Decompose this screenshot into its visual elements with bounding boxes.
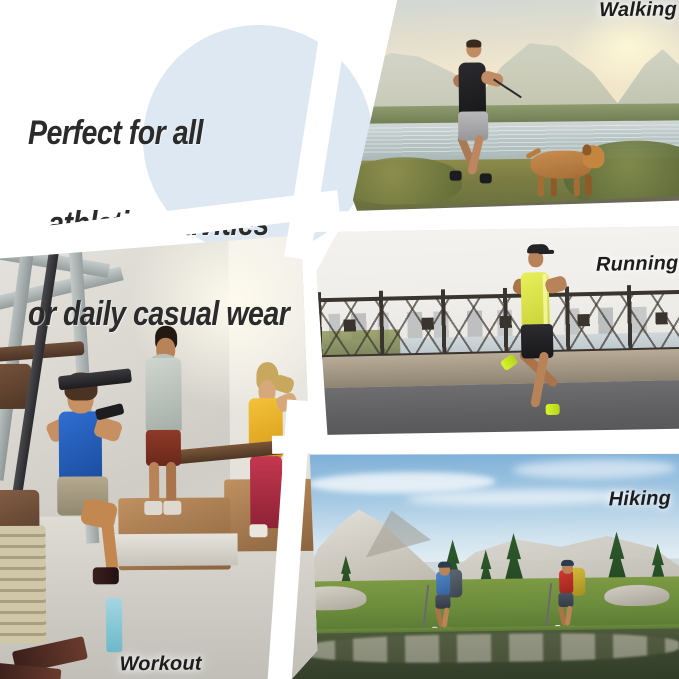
headline-line-1: Perfect for all [28, 111, 339, 156]
leg [149, 462, 159, 506]
boulder [604, 584, 670, 606]
runner-cap-brim [538, 250, 554, 254]
walker-hair [466, 40, 481, 48]
walker-front-shoe [480, 173, 492, 183]
hiker-torso [559, 570, 573, 594]
hiking-scene [282, 449, 679, 679]
dog-leg [537, 175, 544, 197]
walker-figure [436, 41, 512, 186]
red-leggings [250, 456, 282, 529]
hiker-front-leg [565, 605, 572, 625]
runner-front-shoe [545, 404, 560, 415]
walker-torso [459, 62, 486, 114]
panel-label-walking: Walking [599, 0, 677, 22]
shorts [145, 430, 180, 466]
chest-press-user [38, 372, 139, 590]
shoe [163, 501, 181, 515]
press-handle [95, 403, 125, 420]
headline-line-3: or daily casual wear [28, 292, 339, 337]
trekking-pole [545, 583, 552, 627]
runner-figure [495, 244, 581, 432]
dog-leg [550, 176, 557, 197]
walker-shorts [458, 111, 488, 140]
hiker-shorts [558, 593, 574, 607]
dog-leg [585, 174, 592, 195]
shoe [249, 524, 268, 537]
runner-back-shoe [500, 353, 519, 371]
dog-leg [573, 175, 580, 197]
runner-shorts [520, 324, 554, 358]
weight-stack [0, 526, 47, 644]
panel-walking: Walking [351, 0, 679, 228]
panel-label-workout: Workout [119, 653, 201, 677]
shin [101, 514, 119, 571]
panel-running: Running [316, 224, 679, 448]
panel-label-running: Running [596, 252, 679, 277]
trekking-pole [422, 585, 429, 629]
hiker-cap [438, 561, 451, 567]
hiker-cap [561, 560, 574, 566]
panel-hiking: Hiking [282, 449, 679, 679]
shoe [145, 501, 163, 515]
walker-back-shoe [450, 170, 462, 180]
dog-figure [522, 137, 604, 198]
hiker-shorts [435, 595, 451, 609]
water-bottle [106, 598, 123, 652]
shoe [93, 567, 119, 585]
hiker-front-leg [442, 607, 449, 627]
hiker-figure-back [546, 561, 592, 632]
hiker-torso [436, 572, 450, 596]
promo-collage: Perfect for all athletic activities or d… [0, 0, 679, 679]
panel-label-hiking: Hiking [609, 487, 672, 511]
leg [166, 461, 176, 505]
dog-ear [583, 144, 592, 155]
hiker-figure-front [423, 563, 469, 634]
walking-scene [351, 0, 679, 228]
